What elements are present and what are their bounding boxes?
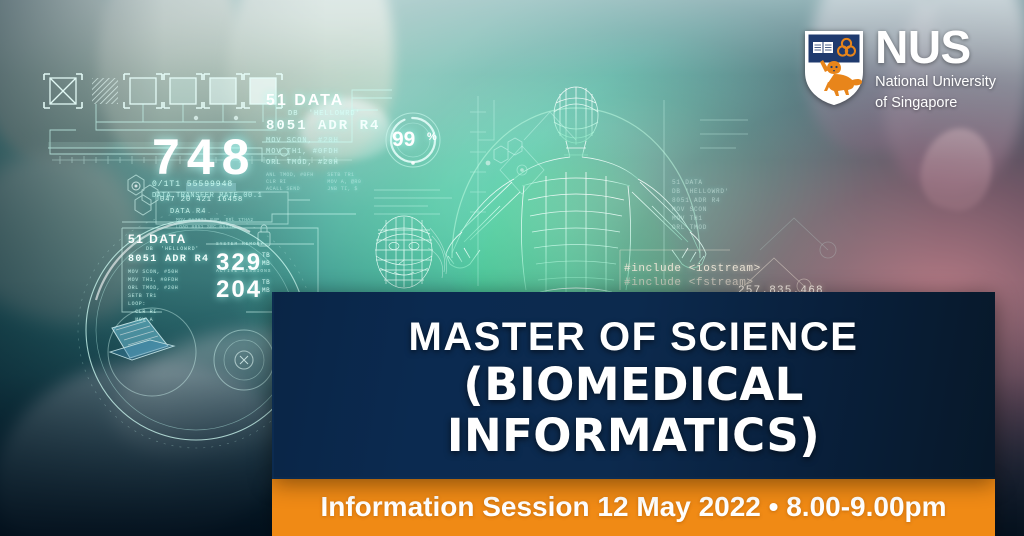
nus-shield-crest-icon	[804, 30, 864, 106]
program-title-line2: (BIOMEDICAL INFORMATICS)	[290, 360, 977, 461]
nus-subtitle-line2: of Singapore	[875, 95, 996, 112]
promo-banner-image: 748 0/1T1 55599948 DATA TRANSFER RATE 00…	[0, 0, 1024, 536]
nus-wordmark-block: NUS National University of Singapore	[875, 24, 996, 113]
title-banner: MASTER OF SCIENCE (BIOMEDICAL INFORMATIC…	[272, 292, 995, 536]
title-banner-orange-panel: Information Session 12 May 2022 • 8.00-9…	[272, 479, 995, 536]
nus-wordmark: NUS	[875, 24, 996, 70]
nus-subtitle-line1: National University	[875, 74, 996, 91]
session-details: Information Session 12 May 2022 • 8.00-9…	[290, 491, 977, 523]
title-banner-navy-panel: MASTER OF SCIENCE (BIOMEDICAL INFORMATIC…	[272, 292, 995, 479]
book-icon	[813, 42, 833, 53]
nus-logo: NUS National University of Singapore	[804, 24, 996, 113]
program-title-line1: MASTER OF SCIENCE	[290, 316, 977, 358]
